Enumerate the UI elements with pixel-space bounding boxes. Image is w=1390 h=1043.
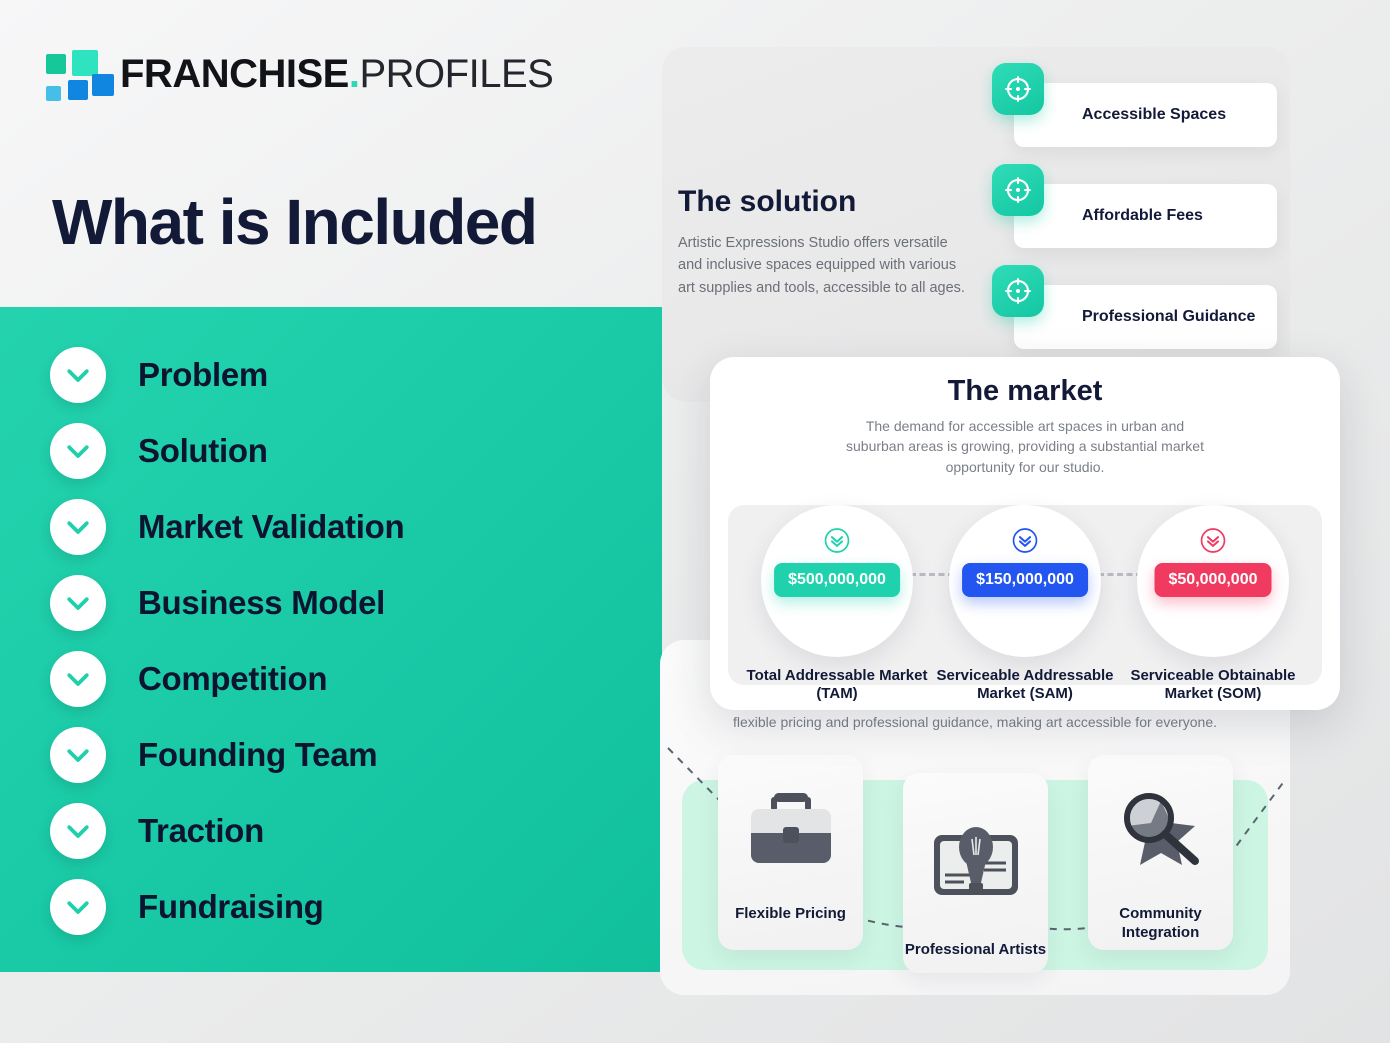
market-title: The market <box>710 375 1340 408</box>
solution-feature-card[interactable]: Affordable Fees <box>1014 184 1277 248</box>
market-segment-name: Serviceable Obtainable Market (SOM) <box>1118 667 1308 703</box>
highlight-card-label: Professional Artists <box>903 941 1048 960</box>
highlight-card[interactable]: Flexible Pricing <box>718 755 863 950</box>
market-segment[interactable]: $50,000,000 Serviceable Obtainable Marke… <box>1118 505 1308 703</box>
market-segment-value: $150,000,000 <box>962 563 1088 597</box>
market-card: The market The demand for accessible art… <box>710 357 1340 710</box>
market-segment-circle: $150,000,000 <box>949 505 1101 657</box>
solution-feature-card[interactable]: Professional Guidance <box>1014 285 1277 349</box>
solution-feature-label: Professional Guidance <box>1082 308 1255 326</box>
toc-item-market-validation[interactable]: Market Validation <box>50 499 610 555</box>
toc-item-label: Business Model <box>138 584 385 622</box>
brand-wordmark: FRANCHISE.PROFILES <box>120 54 553 94</box>
double-chevron-down-icon <box>824 527 851 559</box>
market-segment[interactable]: $150,000,000 Serviceable Addressable Mar… <box>930 505 1120 703</box>
solution-feature-card[interactable]: Accessible Spaces <box>1014 83 1277 147</box>
highlight-card-label: Community Integration <box>1088 905 1233 943</box>
toc-item-label: Solution <box>138 432 268 470</box>
toc-item-fundraising[interactable]: Fundraising <box>50 879 610 935</box>
solution-feature-label: Affordable Fees <box>1082 207 1203 225</box>
brand-logo[interactable]: FRANCHISE.PROFILES <box>46 50 553 98</box>
chevron-down-icon <box>50 347 106 403</box>
highlight-card-label: Flexible Pricing <box>718 905 863 924</box>
market-segment-value: $500,000,000 <box>774 563 900 597</box>
solution-title: The solution <box>678 185 856 219</box>
page-title: What is Included <box>52 190 536 254</box>
solution-feature-label: Accessible Spaces <box>1082 106 1226 124</box>
toc-item-competition[interactable]: Competition <box>50 651 610 707</box>
market-segment-value: $50,000,000 <box>1155 563 1272 597</box>
toc-item-label: Market Validation <box>138 508 404 546</box>
market-segment-name: Serviceable Addressable Market (SAM) <box>930 667 1120 703</box>
market-segment-circle: $50,000,000 <box>1137 505 1289 657</box>
target-crosshair-icon <box>992 164 1044 216</box>
chevron-down-icon <box>50 803 106 859</box>
market-segment-circle: $500,000,000 <box>761 505 913 657</box>
toc-item-label: Fundraising <box>138 888 324 926</box>
toc-item-problem[interactable]: Problem <box>50 347 610 403</box>
table-of-contents: Problem Solution Market Validation Busin… <box>50 347 610 955</box>
market-segments-plate: $500,000,000 Total Addressable Market (T… <box>728 505 1322 685</box>
highlights-description: flexible pricing and professional guidan… <box>660 712 1290 732</box>
chevron-down-icon <box>50 423 106 479</box>
toc-item-business-model[interactable]: Business Model <box>50 575 610 631</box>
target-crosshair-icon <box>992 265 1044 317</box>
highlight-card[interactable]: Community Integration <box>1088 755 1233 950</box>
toc-item-label: Founding Team <box>138 736 377 774</box>
double-chevron-down-icon <box>1012 527 1039 559</box>
toc-item-label: Traction <box>138 812 264 850</box>
magnifier-star-icon <box>1111 785 1211 880</box>
squares-logo-icon <box>46 50 106 98</box>
target-crosshair-icon <box>992 63 1044 115</box>
briefcase-icon <box>741 785 841 880</box>
double-chevron-down-icon <box>1200 527 1227 559</box>
market-segment[interactable]: $500,000,000 Total Addressable Market (T… <box>742 505 932 703</box>
solution-feature[interactable]: Accessible Spaces <box>992 83 1292 147</box>
chevron-down-icon <box>50 651 106 707</box>
solution-description: Artistic Expressions Studio offers versa… <box>678 232 968 299</box>
chevron-down-icon <box>50 879 106 935</box>
toc-item-label: Problem <box>138 356 268 394</box>
chevron-down-icon <box>50 727 106 783</box>
chevron-down-icon <box>50 499 106 555</box>
toc-item-label: Competition <box>138 660 327 698</box>
toc-item-traction[interactable]: Traction <box>50 803 610 859</box>
brand-name-bold: FRANCHISE <box>120 52 349 96</box>
toc-item-founding-team[interactable]: Founding Team <box>50 727 610 783</box>
brand-dot: . <box>349 52 360 96</box>
market-description: The demand for accessible art spaces in … <box>845 416 1205 477</box>
lightbulb-certificate-icon <box>926 815 1026 910</box>
chevron-down-icon <box>50 575 106 631</box>
toc-item-solution[interactable]: Solution <box>50 423 610 479</box>
market-segment-name: Total Addressable Market (TAM) <box>742 667 932 703</box>
brand-name-light: PROFILES <box>359 52 553 96</box>
solution-feature[interactable]: Professional Guidance <box>992 285 1292 349</box>
highlight-card[interactable]: Professional Artists <box>903 773 1048 973</box>
solution-card: The solution Artistic Expressions Studio… <box>662 47 1290 402</box>
solution-feature[interactable]: Affordable Fees <box>992 184 1292 248</box>
